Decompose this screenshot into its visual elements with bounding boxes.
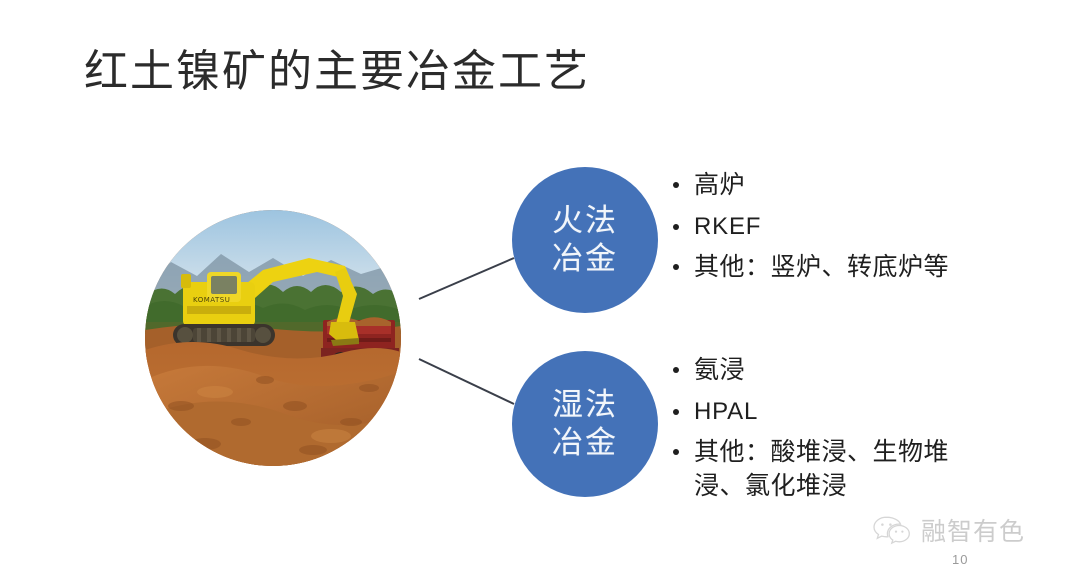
node-label-line1: 湿法 bbox=[552, 386, 618, 424]
connector-to-hydro bbox=[419, 359, 514, 404]
bullet-list-pyrometallurgy: 高炉 RKEF 其他：竖炉、转底炉等 bbox=[668, 168, 968, 291]
list-item: RKEF bbox=[668, 210, 968, 243]
node-circle-pyrometallurgy[interactable]: 火法 冶金 bbox=[512, 167, 658, 313]
mining-photo: KOMATSU bbox=[145, 210, 401, 466]
connector-to-pyro bbox=[419, 258, 514, 299]
list-item: 高炉 bbox=[668, 168, 968, 203]
list-item: HPAL bbox=[668, 395, 968, 428]
page-number: 10 bbox=[952, 552, 968, 567]
svg-text:KOMATSU: KOMATSU bbox=[193, 296, 230, 304]
node-label-line1: 火法 bbox=[552, 202, 618, 240]
page-title: 红土镍矿的主要冶金工艺 bbox=[84, 44, 590, 99]
slide: 红土镍矿的主要冶金工艺 bbox=[0, 0, 1080, 585]
node-label-line2: 冶金 bbox=[552, 424, 618, 462]
mining-photo-illustration: KOMATSU bbox=[145, 210, 401, 466]
watermark-text: 融智有色 bbox=[921, 512, 1025, 548]
wechat-icon bbox=[872, 515, 912, 545]
node-circle-hydrometallurgy[interactable]: 湿法 冶金 bbox=[512, 351, 658, 497]
list-item: 其他：竖炉、转底炉等 bbox=[668, 250, 968, 285]
bullet-list-hydrometallurgy: 氨浸 HPAL 其他：酸堆浸、生物堆浸、氯化堆浸 bbox=[668, 353, 968, 511]
list-item: 其他：酸堆浸、生物堆浸、氯化堆浸 bbox=[668, 435, 968, 504]
list-item: 氨浸 bbox=[668, 353, 968, 388]
node-label-line2: 冶金 bbox=[552, 240, 618, 278]
watermark: 融智有色 bbox=[872, 512, 1025, 548]
